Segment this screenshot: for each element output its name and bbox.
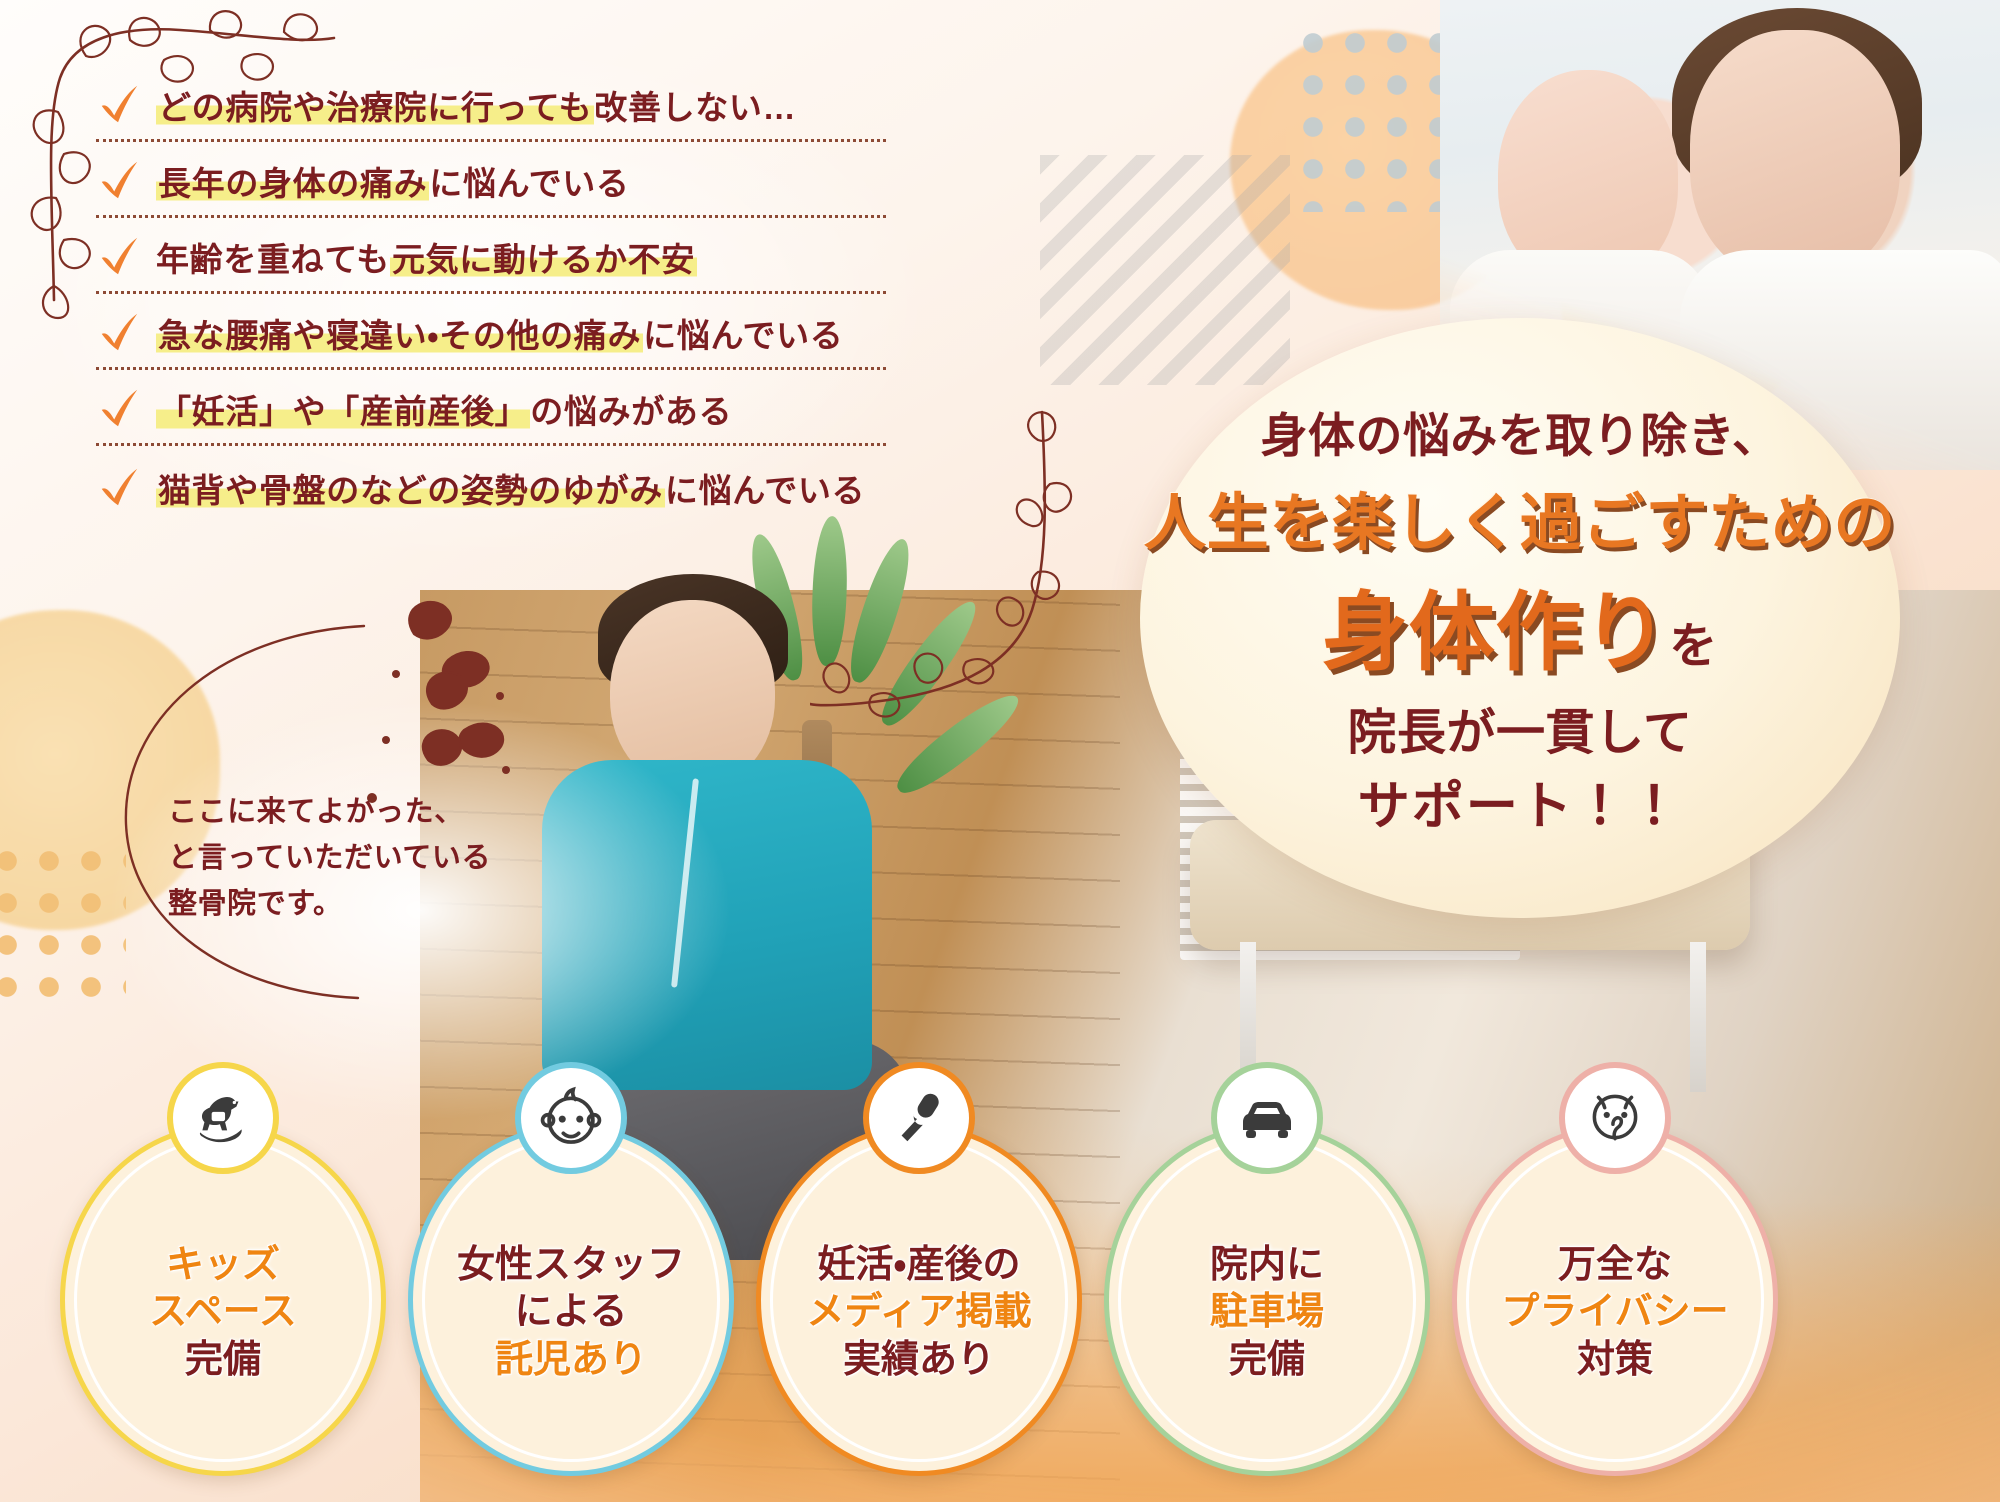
dot-grid-grey	[1292, 22, 1472, 212]
headline-keyword-suffix: を	[1669, 620, 1718, 673]
landing-page-hero: どの病院や治療院に行っても改善しない…長年の身体の痛みに悩んでいる年齢を重ねても…	[0, 0, 2000, 1502]
checklist-item-label: 「妊活」や「産前産後」の悩みがある	[156, 393, 732, 433]
headline-line-4: 院長が一貫して	[1348, 693, 1693, 764]
feature-badge-bubble[interactable]: キッズスペース完備	[60, 1124, 386, 1476]
headline-line-2: 人生を楽しく過ごすための	[1144, 472, 1896, 562]
headline-oval: 身体の悩みを取り除き、 人生を楽しく過ごすための 身体作りを 院長が一貫して サ…	[1140, 318, 1900, 918]
feature-badge-bubble[interactable]: 院内に駐車場完備	[1104, 1124, 1430, 1476]
feature-badge-bubble[interactable]: 妊活・産後のメディア掲載実績あり	[756, 1124, 1082, 1476]
checklist-item-label: 猫背や骨盤のなどの姿勢のゆがみに悩んでいる	[156, 472, 865, 512]
feature-badge[interactable]: 妊活・産後のメディア掲載実績あり	[756, 1124, 1082, 1476]
feature-badge-bubble[interactable]: 女性スタッフによる託児あり	[408, 1124, 734, 1476]
feature-badge-line: による	[515, 1290, 628, 1336]
pain-points-checklist: どの病院や治療院に行っても改善しない…長年の身体の痛みに悩んでいる年齢を重ねても…	[96, 78, 886, 534]
checklist-plain: に悩んでいる	[429, 165, 629, 202]
feature-badge-line: 万全な	[1558, 1243, 1672, 1289]
checklist-plain: に悩んでいる	[665, 472, 865, 509]
car-icon	[1211, 1062, 1323, 1174]
feature-badge-line: キッズ	[166, 1243, 280, 1289]
checklist-item: どの病院や治療院に行っても改善しない…	[96, 78, 886, 142]
check-icon	[96, 464, 142, 510]
checklist-plain: 改善しない…	[594, 89, 796, 126]
checklist-item-label: 長年の身体の痛みに悩んでいる	[156, 165, 630, 205]
check-icon	[96, 233, 142, 279]
checklist-highlight: 元気に動けるか不安	[390, 241, 697, 278]
checklist-highlight: どの病院や治療院に行っても	[156, 89, 594, 126]
check-icon	[96, 157, 142, 203]
checklist-item: 年齢を重ねても元気に動けるか不安	[96, 230, 886, 294]
feature-badge-line: スペース	[149, 1290, 296, 1336]
feature-badge-line: 託児あり	[495, 1338, 647, 1384]
feature-badge-line: 駐車場	[1210, 1290, 1324, 1336]
diagonal-stripes-top	[1040, 155, 1290, 385]
testimonial-line: 整骨院です。	[168, 882, 588, 928]
feature-badge-line: 完備	[185, 1338, 261, 1384]
feature-badge-line: 妊活・産後の	[818, 1243, 1021, 1289]
headline-line-5: サポート！！	[1358, 764, 1682, 839]
baby-face-icon	[515, 1062, 627, 1174]
microphone-icon	[863, 1062, 975, 1174]
checklist-highlight: 「妊活」や「産前産後」	[156, 393, 530, 430]
checklist-plain: の悩みがある	[530, 393, 732, 430]
rocking-horse-icon	[167, 1062, 279, 1174]
checklist-highlight: 長年の身体の痛み	[156, 165, 429, 202]
feature-badge-line: 院内に	[1210, 1243, 1324, 1289]
shush-face-icon	[1559, 1062, 1671, 1174]
checklist-highlight: 猫背や骨盤のなどの姿勢のゆがみ	[156, 472, 665, 509]
feature-badge[interactable]: 女性スタッフによる託児あり	[408, 1124, 734, 1476]
feature-badge-bubble[interactable]: 万全なプライバシー対策	[1452, 1124, 1778, 1476]
feature-badge[interactable]: キッズスペース完備	[60, 1124, 386, 1476]
feature-badge-line: 女性スタッフ	[457, 1243, 685, 1289]
checklist-item-label: 急な腰痛や寝違い・その他の痛みに悩んでいる	[156, 317, 843, 357]
watercolor-blob-mid-yellow	[960, 930, 1190, 1150]
watercolor-blob-right-edge	[1800, 840, 2000, 1110]
feature-badge-row: キッズスペース完備女性スタッフによる託児あり妊活・産後のメディア掲載実績あり院内…	[60, 1124, 1778, 1476]
checklist-item-label: どの病院や治療院に行っても改善しない…	[156, 89, 796, 129]
checklist-highlight: 急な腰痛や寝違い・その他の痛み	[156, 317, 643, 354]
check-icon	[96, 309, 142, 355]
diagonal-stripes-right	[1790, 880, 2000, 1110]
headline-line-1: 身体の悩みを取り除き、	[1261, 397, 1780, 466]
testimonial-text: ここに来てよかった、と言っていただいている整骨院です。	[168, 790, 588, 927]
checklist-plain: 年齢を重ねても	[156, 241, 390, 278]
feature-badge-line: 対策	[1577, 1338, 1653, 1384]
checklist-item: 長年の身体の痛みに悩んでいる	[96, 154, 886, 218]
feature-badge-line: 実績あり	[843, 1338, 995, 1384]
feature-badge-line: 完備	[1229, 1338, 1305, 1384]
feature-badge-line: プライバシー	[1501, 1290, 1728, 1336]
checklist-item: 急な腰痛や寝違い・その他の痛みに悩んでいる	[96, 306, 886, 370]
dot-grid-orange	[0, 840, 126, 1010]
check-icon	[96, 81, 142, 127]
feature-badge[interactable]: 院内に駐車場完備	[1104, 1124, 1430, 1476]
watercolor-blob-orange-top	[1230, 30, 1530, 310]
headline-line-3: 身体作りを	[1322, 562, 1718, 687]
checklist-item-label: 年齢を重ねても元気に動けるか不安	[156, 241, 697, 281]
checklist-plain: に悩んでいる	[643, 317, 843, 354]
testimonial-line: と言っていただいている	[168, 836, 588, 882]
watercolor-blob-mid-orange	[840, 690, 1090, 940]
feature-badge-line: メディア掲載	[806, 1290, 1031, 1336]
checklist-item: 猫背や骨盤のなどの姿勢のゆがみに悩んでいる	[96, 458, 886, 522]
headline-keyword: 身体作り	[1322, 585, 1669, 681]
check-icon	[96, 385, 142, 431]
feature-badge[interactable]: 万全なプライバシー対策	[1452, 1124, 1778, 1476]
testimonial-line: ここに来てよかった、	[168, 790, 588, 836]
checklist-item: 「妊活」や「産前産後」の悩みがある	[96, 382, 886, 446]
